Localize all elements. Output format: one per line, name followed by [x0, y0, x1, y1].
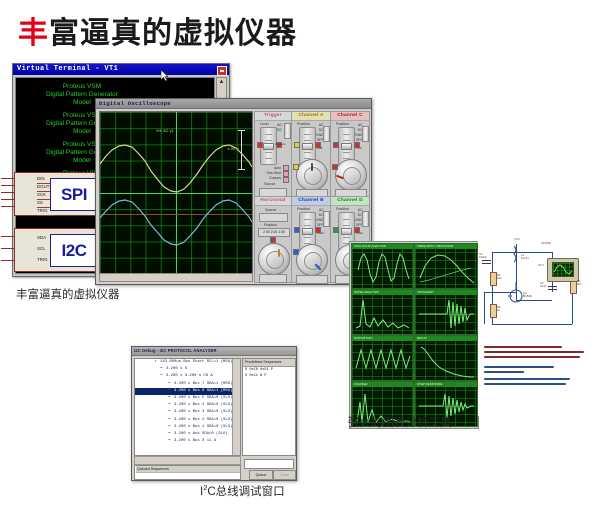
i2c-list-hscrollbar[interactable] — [134, 456, 241, 465]
readout-c: 1.50 — [278, 230, 285, 234]
trigger-coupling-switches[interactable]: AC DC — [277, 123, 282, 133]
caption-virtual-instruments: 丰富逼真的虚拟仪器 — [16, 286, 120, 302]
row-mid: Bus 1 — [193, 425, 205, 429]
row-value: SDA=1 (MSG) — [207, 389, 233, 393]
channel-d-led-left — [333, 227, 339, 233]
pin-wire — [1, 178, 15, 179]
i2c-debug-titlebar[interactable]: I2C Debug - I2C PROTOCOL ANALYSER — [132, 347, 296, 356]
channel-b-range-readout[interactable] — [296, 275, 328, 284]
row-time: 3.200 s — [166, 367, 182, 371]
arrow-icon: ➨ — [165, 395, 174, 402]
net-label-out: OUT — [538, 264, 544, 267]
trigger-source-label: Source — [264, 182, 275, 186]
row-mid: Bus 0 — [193, 439, 205, 443]
channel-a-trace — [100, 145, 252, 192]
channel-a-led-left — [294, 142, 300, 148]
component-label-r2: R21k — [497, 306, 501, 313]
pin-wire — [1, 248, 15, 249]
arrow-icon: ➨ — [165, 388, 174, 395]
row-mid: Ack — [193, 432, 200, 436]
component-label-c1: C1100nF — [479, 253, 487, 260]
row-time: 3.200 s — [174, 410, 190, 414]
bullet-icon: ✦ — [151, 359, 160, 366]
row-mid: Bus 4 — [193, 403, 205, 407]
row-mid: Bus 6 — [193, 389, 205, 393]
table-row[interactable]: ➨3.200 s Bus 1 SDA=0 (SLO) — [135, 424, 240, 431]
arrow-icon: ➨ — [165, 424, 174, 431]
panel-channel-b[interactable]: Channel B Position AC DC GND OFF Invert — [291, 196, 331, 283]
panel-horizontal-title: Horizontal — [255, 197, 291, 206]
graph-cell[interactable]: NOISE ANALYSIS — [351, 289, 414, 335]
circuit-symbols — [478, 236, 600, 346]
channel-c-volts-knob[interactable] — [335, 159, 367, 191]
page-title: 丰富逼真的虚拟仪器 — [18, 8, 297, 52]
row-time: 3.200 s — [174, 382, 190, 386]
table-row[interactable]: ➨3.200 s Bus 5 SDA=0 (SLO) — [135, 395, 240, 402]
trigger-coupling-lever[interactable] — [284, 123, 291, 139]
component-label-c2: C210uF — [540, 282, 546, 289]
spi-component[interactable]: DIN DOUT SCK SS TRIG SPI — [14, 172, 102, 216]
oscilloscope-titlebar[interactable]: Digital Oscilloscope — [96, 99, 371, 109]
table-row[interactable]: ➨3.200 s S — [135, 366, 240, 373]
switch-option[interactable]: DC — [277, 128, 282, 133]
component-label-scope: SCOPE — [541, 242, 551, 245]
table-row[interactable]: ➨3.200 s Bus 2 SDA=0 (SLO) — [135, 417, 240, 424]
i2c-debug-window[interactable]: I2C Debug - I2C PROTOCOL ANALYSER ✦143.0… — [131, 346, 297, 481]
predefined-sequences-panel[interactable]: Predefined Sequences S 0xC0 0x51 P S 0xC… — [242, 358, 296, 456]
close-icon[interactable] — [217, 66, 227, 76]
queued-sequences-label: Queued Sequences — [136, 466, 240, 473]
channel-c-position-label: Position — [336, 122, 349, 126]
table-row[interactable]: ➨3.200 s Bus 7 SDA=1 (MSG) — [135, 381, 240, 388]
channel-b-position-label: Position — [297, 207, 310, 211]
net-label-vcc: VCC — [514, 238, 520, 241]
arrow-icon: ➨ — [165, 417, 174, 424]
i2c-label: I2C — [50, 234, 98, 267]
horizontal-source-selector[interactable] — [259, 213, 288, 222]
virtual-terminal-title: Virtual Terminal - VT1 — [17, 64, 118, 75]
oscilloscope-hscrollbar[interactable] — [99, 273, 253, 282]
readout-a: 2.50 — [263, 230, 270, 234]
panel-channel-a-title: Channel A — [292, 112, 330, 121]
trigger-mode-options[interactable]: Auto One-Shot Cursors — [259, 166, 281, 181]
pin-wire — [1, 206, 15, 207]
virtual-terminal-titlebar[interactable]: Virtual Terminal - VT1 — [13, 64, 229, 75]
graph-cell[interactable]: DISTORTION — [351, 335, 414, 381]
row-time: 3.200 s — [174, 403, 190, 407]
channel-d-invert-label: Invert — [356, 231, 363, 236]
horizontal-position-readout: 2.50 2.00 1.50 — [258, 228, 290, 237]
i2c-message-list[interactable]: ✦143.000us Bus Start SCL=1 (MSG) ➨3.200 … — [134, 358, 241, 456]
graph-trace — [352, 290, 413, 334]
oscilloscope-icon[interactable] — [547, 258, 579, 282]
predefined-sequences-header: Predefined Sequences — [243, 359, 295, 367]
channel-b-trace — [100, 200, 252, 245]
channel-a-position-label: Position — [297, 122, 310, 126]
trigger-slope-label: Cursors — [275, 142, 286, 147]
horizontal-timebase-knob[interactable] — [258, 243, 290, 275]
arrow-icon: ➨ — [165, 381, 174, 388]
pin-wire — [1, 260, 15, 261]
row-mid: Bus 2 — [193, 418, 205, 422]
row-value: SDA=0 (SLO) — [207, 403, 233, 407]
row-value: SDA=0 (SLO) — [202, 432, 228, 436]
arrow-icon: ➨ — [157, 366, 166, 373]
channel-a-invert-label: A+B — [317, 146, 322, 151]
row-value: SDA=0 (SLO) — [207, 410, 233, 414]
table-row-selected[interactable]: ➨3.200 s Bus 6 SDA=1 (MSG) — [135, 388, 240, 395]
screen-note-right: 4.00 V — [227, 146, 239, 151]
table-row[interactable]: ➨3.200 s Bus 0 11 A — [135, 438, 240, 445]
channel-b-knob-led — [293, 249, 299, 255]
graph-cell[interactable]: ANALOGUE ANALYSIS — [351, 243, 414, 289]
channel-a-volts-knob[interactable] — [296, 159, 328, 191]
component-label-l1: L110mH — [521, 254, 528, 261]
spi-label: SPI — [50, 178, 98, 211]
waveform-traces — [100, 112, 252, 274]
row-mid: Bus Start — [183, 360, 204, 364]
table-row[interactable]: ➨3.200 s Bus 4 SDA=0 (SLO) — [135, 402, 240, 409]
arrow-icon: ➨ — [165, 431, 174, 438]
row-time: 3.200 s — [166, 374, 182, 378]
row-time: 3.200 s — [174, 439, 190, 443]
channel-b-volts-knob[interactable] — [296, 244, 328, 276]
channel-d-coupling-lever[interactable] — [362, 211, 369, 227]
mode-led-cursors[interactable] — [283, 177, 289, 183]
graph-trace — [415, 244, 477, 288]
panel-trigger-title: Trigger — [255, 112, 291, 121]
panel-channel-c[interactable]: Channel C Position AC DC GND OFF C+D — [330, 111, 370, 197]
row-value: SCL=1 (MSG) — [207, 360, 233, 364]
channel-b-led-left — [294, 227, 300, 233]
row-value: SDA=0 (SLO) — [207, 418, 233, 422]
panel-channel-d-title: Channel D — [331, 197, 369, 206]
row-time: 3.200 s — [174, 396, 190, 400]
row-value: SDA=1 (MSG) — [207, 382, 233, 386]
row-time: 3.200 s — [174, 389, 190, 393]
readout-b: 2.00 — [271, 230, 278, 234]
trigger-led-left — [257, 142, 263, 148]
row-value: 11 A — [207, 439, 216, 443]
pin-wire — [1, 192, 15, 193]
pin-wire — [1, 199, 15, 200]
graph-trace — [415, 290, 477, 334]
screen-note-top: Vrf: AC y1 — [156, 128, 174, 133]
row-time: 3.200 s — [174, 432, 190, 436]
clear-button[interactable]: Clear — [273, 470, 296, 480]
row-time: 143.000us — [160, 360, 181, 364]
arrow-icon: ➨ — [157, 373, 166, 380]
channel-c-knob-led — [332, 164, 338, 170]
queue-button[interactable]: Queue — [249, 470, 273, 480]
table-row[interactable]: ➨3.200 s Bus 3 SDA=0 (SLO) — [135, 409, 240, 416]
row-mid: 3.200 s — [185, 374, 201, 378]
component-label-r1: R110k — [497, 274, 502, 281]
row-value: SDA=0 (SLO) — [207, 396, 233, 400]
sequence-edit-field[interactable] — [244, 459, 294, 469]
row-mid: Bus 7 — [193, 382, 205, 386]
graph-trace — [352, 244, 413, 288]
i2c-component[interactable]: SDA SCL TRIG I2C — [14, 228, 102, 272]
terminal-line: Proteus VSM — [16, 83, 148, 91]
panel-channel-c-title: Channel C — [331, 112, 369, 121]
pin-wire — [1, 236, 15, 237]
graph-cell[interactable]: DECAY — [414, 335, 478, 381]
row-value: S — [185, 367, 187, 371]
mouse-cursor-icon — [161, 70, 168, 81]
horizontal-source-label: Source — [265, 208, 276, 212]
row-value: SDA=0 (SLO) — [207, 425, 233, 429]
horizontal-range-readout[interactable] — [259, 274, 287, 283]
graph-cell[interactable]: TRANSIENT — [414, 289, 478, 335]
oscilloscope-window[interactable]: Digital Oscilloscope Vrf: AC y1 4.00 V T… — [95, 98, 372, 285]
mode-option-cursors[interactable]: Cursors — [259, 176, 281, 181]
arrow-icon: ➨ — [165, 409, 174, 416]
caption-graph-tools: 强大的图表分析工具 — [348, 414, 452, 430]
i2c-list-vscrollbar[interactable] — [232, 359, 240, 455]
scroll-up-icon[interactable]: ▲ — [217, 78, 226, 87]
circuit-schematic[interactable]: VCC C1100nF L110mH R110k OUT Q1BC548 C21… — [478, 236, 600, 416]
table-row[interactable]: ➨3.200 s Ack SDA=0 (SLO) — [135, 431, 240, 438]
panel-trigger[interactable]: Trigger Level AC DC Cursors Auto One-Sho… — [254, 111, 292, 197]
panel-channel-a[interactable]: Channel A Position AC DC GND OFF A+B — [291, 111, 331, 197]
row-mid: Bus 3 — [193, 410, 205, 414]
i2c-debug-title: I2C Debug - I2C PROTOCOL ANALYSER — [134, 347, 217, 355]
panel-channel-b-title: Channel B — [292, 197, 330, 206]
component-label-q1: Q1BC548 — [523, 292, 532, 299]
arrow-icon: ➨ — [165, 438, 174, 445]
caption-i2c-window: I2C总线调试窗口 — [200, 483, 285, 499]
channel-b-invert-label: Invert — [317, 231, 324, 236]
queued-sequences-panel[interactable]: Queued Sequences — [134, 465, 241, 480]
row-mid: Bus 5 — [193, 396, 205, 400]
table-row[interactable]: ➨3.200 s 3.200 s C6 A — [135, 373, 240, 380]
graph-trace — [415, 336, 477, 380]
channel-c-coupling-lever[interactable] — [362, 126, 369, 142]
graph-trace — [352, 336, 413, 380]
caption-i2c-suffix: C总线调试窗口 — [207, 486, 284, 498]
oscilloscope-title: Digital Oscilloscope — [99, 99, 171, 108]
table-row[interactable]: ✦143.000us Bus Start SCL=1 (MSG) — [135, 359, 240, 366]
channel-a-knob-led — [293, 164, 299, 170]
oscilloscope-screen: Vrf: AC y1 4.00 V — [99, 111, 253, 275]
graph-analysis-panel[interactable]: ANALOGUE ANALYSIS FREQUENCY RESPONSE NOI… — [349, 241, 479, 429]
page-title-rest: 富逼真的虚拟仪器 — [49, 17, 297, 50]
trigger-level-label: Level — [260, 122, 269, 126]
row-time: 3.200 s — [174, 425, 190, 429]
pin-wire — [1, 185, 15, 186]
channel-b-coupling-lever[interactable] — [323, 211, 330, 227]
row-time: 3.200 s — [174, 418, 190, 422]
horizontal-position-label: Position — [264, 223, 277, 227]
component-label-r3: R34k7 — [577, 280, 582, 287]
page-title-first-char: 丰 — [18, 17, 49, 50]
list-item[interactable]: S 0xC1 N P — [243, 373, 295, 379]
graph-cell[interactable]: FREQUENCY RESPONSE — [414, 243, 478, 289]
row-value: C6 A — [203, 374, 212, 378]
panel-horizontal[interactable]: Horizontal Source Position 2.50 2.00 1.5… — [254, 196, 292, 283]
channel-d-position-label: Position — [336, 207, 349, 211]
arrow-icon: ➨ — [165, 402, 174, 409]
channel-c-invert-label: C+D — [356, 146, 362, 151]
measurement-marker — [241, 130, 242, 170]
channel-a-coupling-lever[interactable] — [323, 126, 330, 142]
channel-c-led-left — [333, 142, 339, 148]
